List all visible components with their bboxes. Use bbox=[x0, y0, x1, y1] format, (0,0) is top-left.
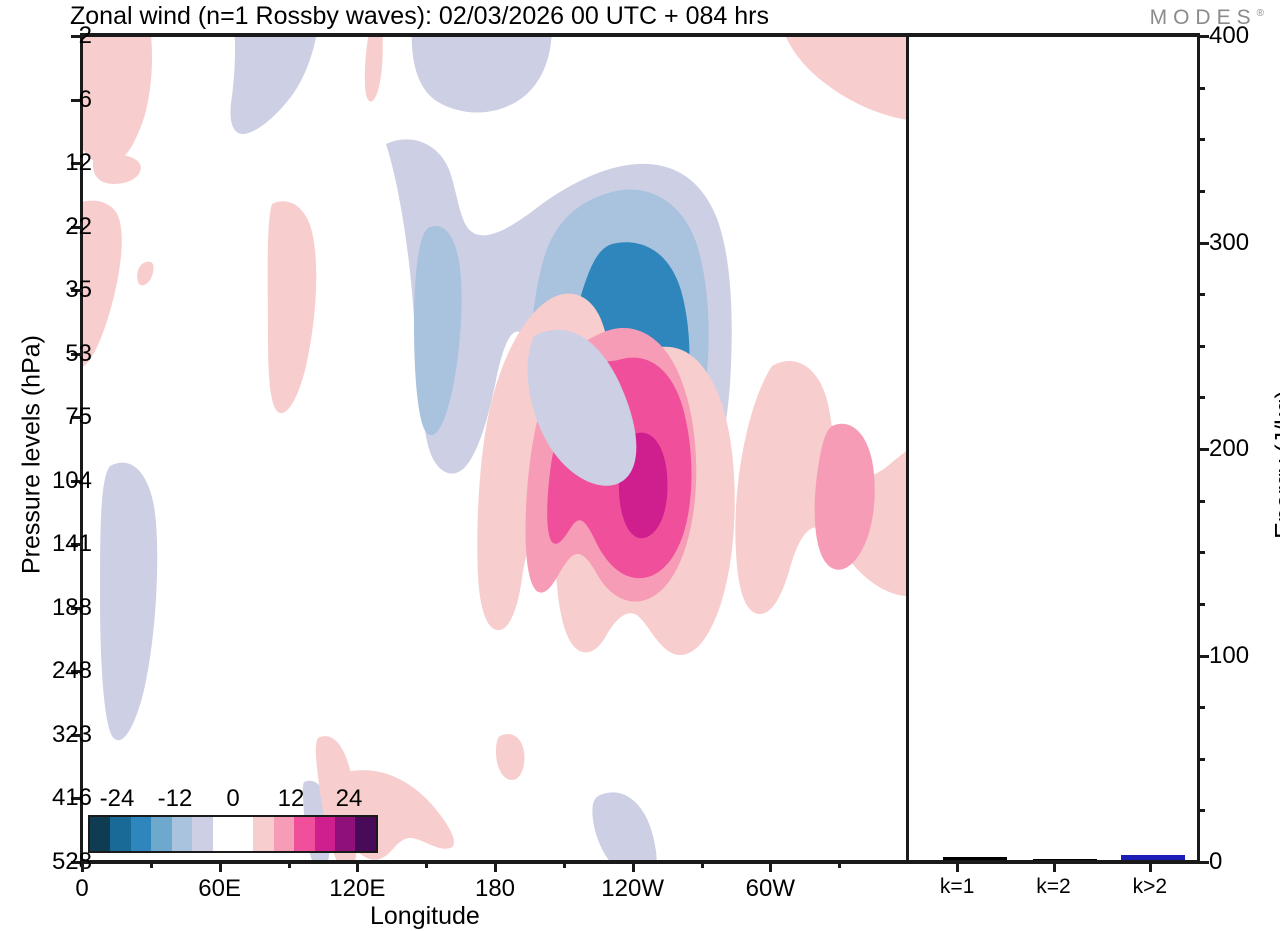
colorbar-swatch-6 bbox=[213, 817, 233, 851]
y2-tick-100 bbox=[1198, 655, 1209, 658]
page-title: Zonal wind (n=1 Rossby waves): 02/03/202… bbox=[70, 2, 769, 31]
y2-tick-label-200: 200 bbox=[1209, 435, 1249, 463]
y2-tick-label-300: 300 bbox=[1209, 229, 1249, 257]
colorbar-swatch-5 bbox=[192, 817, 212, 851]
x-tick-label-180: 180 bbox=[475, 875, 515, 903]
bar-tick-label-k=2: k=2 bbox=[1036, 875, 1070, 899]
plot-border-top bbox=[82, 33, 1200, 37]
y2-tick-300 bbox=[1198, 242, 1209, 245]
y-tick-label-12: 12 bbox=[65, 149, 92, 177]
bar-tick-k=1 bbox=[956, 861, 959, 872]
colorbar-tick--12: -12 bbox=[158, 785, 193, 813]
contour-positive-45E-column bbox=[268, 201, 317, 413]
y-tick-label-416: 416 bbox=[52, 784, 92, 812]
y-tick-label-75: 75 bbox=[65, 403, 92, 431]
contour-negative-upper-dateline bbox=[412, 36, 552, 113]
y-axis-title: Pressure levels (hPa) bbox=[18, 265, 47, 645]
colorbar-swatch-11 bbox=[315, 817, 335, 851]
y2-tick-0 bbox=[1198, 861, 1209, 864]
colorbar-swatch-1 bbox=[110, 817, 130, 851]
y2-tick-label-100: 100 bbox=[1209, 642, 1249, 670]
y2-minor-tick-50 bbox=[1198, 758, 1205, 761]
colorbar-tick-24: 24 bbox=[336, 785, 363, 813]
panel-divider bbox=[906, 33, 909, 864]
colorbar-tick-12: 12 bbox=[278, 785, 305, 813]
y-tick-label-6: 6 bbox=[79, 86, 92, 114]
contour-negative-bottom-140W bbox=[592, 792, 656, 862]
x-tick-label-120E: 120E bbox=[329, 875, 385, 903]
x-minor-tick-210 bbox=[563, 861, 566, 868]
y-tick-label-2: 2 bbox=[79, 22, 92, 50]
contour-positive-sliver bbox=[365, 36, 383, 101]
bar-tick-k>2 bbox=[1149, 861, 1152, 872]
colorbar-tick-0: 0 bbox=[226, 785, 239, 813]
contour-positive-bottom-speck bbox=[496, 734, 524, 780]
colorbar-swatch-8 bbox=[253, 817, 273, 851]
y2-minor-tick-275 bbox=[1198, 293, 1205, 296]
y-axis-title-right: Energy (J/kg) bbox=[1271, 295, 1280, 635]
x-tick-60W bbox=[769, 861, 772, 872]
contour-negative-upper-mid bbox=[231, 36, 319, 134]
colorbar-swatch-12 bbox=[335, 817, 355, 851]
y-tick-label-35: 35 bbox=[65, 276, 92, 304]
bar-tick-label-k>2: k>2 bbox=[1133, 875, 1167, 899]
colorbar[interactable] bbox=[88, 815, 378, 853]
x-minor-tick-270 bbox=[701, 861, 704, 868]
y2-minor-tick-225 bbox=[1198, 396, 1205, 399]
x-tick-120W bbox=[632, 861, 635, 872]
contour-field bbox=[82, 36, 908, 862]
bar-tick-k=2 bbox=[1053, 861, 1056, 872]
x-tick-0 bbox=[81, 861, 84, 872]
x-minor-tick-330 bbox=[838, 861, 841, 868]
contour-negative-left-column bbox=[100, 463, 157, 741]
contour-positive-speck bbox=[137, 262, 153, 286]
colorbar-tick--24: -24 bbox=[100, 785, 135, 813]
colorbar-swatch-10 bbox=[294, 817, 314, 851]
y2-tick-label-400: 400 bbox=[1209, 22, 1249, 50]
y-tick-label-248: 248 bbox=[52, 657, 92, 685]
y2-minor-tick-25 bbox=[1198, 809, 1205, 812]
x-minor-tick-90 bbox=[288, 861, 291, 868]
y2-minor-tick-125 bbox=[1198, 603, 1205, 606]
contour-positive-top-left bbox=[82, 36, 152, 164]
colorbar-swatch-2 bbox=[131, 817, 151, 851]
x-axis-title: Longitude bbox=[370, 902, 480, 931]
colorbar-swatch-3 bbox=[151, 817, 171, 851]
registered-mark-icon: ® bbox=[1257, 8, 1264, 19]
colorbar-swatch-7 bbox=[233, 817, 253, 851]
colorbar-swatch-4 bbox=[172, 817, 192, 851]
y2-minor-tick-375 bbox=[1198, 87, 1205, 90]
x-tick-120E bbox=[356, 861, 359, 872]
y2-minor-tick-175 bbox=[1198, 500, 1205, 503]
y2-minor-tick-350 bbox=[1198, 138, 1205, 141]
x-tick-label-0: 0 bbox=[75, 875, 88, 903]
y2-tick-400 bbox=[1198, 35, 1209, 38]
energy-bar-panel bbox=[909, 36, 1200, 862]
x-tick-label-120W: 120W bbox=[601, 875, 664, 903]
x-tick-label-60E: 60E bbox=[198, 875, 241, 903]
x-minor-tick-30 bbox=[150, 861, 153, 868]
x-tick-60E bbox=[219, 861, 222, 872]
contour-positive-upper-right bbox=[782, 36, 908, 120]
y-tick-label-104: 104 bbox=[52, 467, 92, 495]
y2-minor-tick-325 bbox=[1198, 190, 1205, 193]
x-tick-label-60W: 60W bbox=[746, 875, 795, 903]
y2-tick-200 bbox=[1198, 448, 1209, 451]
chart-canvas: Zonal wind (n=1 Rossby waves): 02/03/202… bbox=[0, 0, 1280, 930]
bar-tick-label-k=1: k=1 bbox=[940, 875, 974, 899]
y2-minor-tick-150 bbox=[1198, 551, 1205, 554]
y-tick-label-528: 528 bbox=[52, 848, 92, 876]
plot-border-bottom bbox=[82, 860, 1200, 864]
y-tick-label-323: 323 bbox=[52, 721, 92, 749]
x-tick-180 bbox=[494, 861, 497, 872]
contour-positive-blob-small bbox=[93, 154, 141, 184]
y2-tick-label-0: 0 bbox=[1209, 848, 1222, 876]
contour-panel bbox=[82, 36, 908, 862]
colorbar-swatch-9 bbox=[274, 817, 294, 851]
y-tick-label-188: 188 bbox=[52, 594, 92, 622]
colorbar-swatch-13 bbox=[355, 817, 375, 851]
y-tick-label-141: 141 bbox=[52, 530, 92, 558]
y-tick-label-22: 22 bbox=[65, 213, 92, 241]
y-tick-label-53: 53 bbox=[65, 340, 92, 368]
x-minor-tick-150 bbox=[425, 861, 428, 868]
y2-minor-tick-250 bbox=[1198, 345, 1205, 348]
y2-minor-tick-75 bbox=[1198, 706, 1205, 709]
colorbar-swatch-0 bbox=[90, 817, 110, 851]
